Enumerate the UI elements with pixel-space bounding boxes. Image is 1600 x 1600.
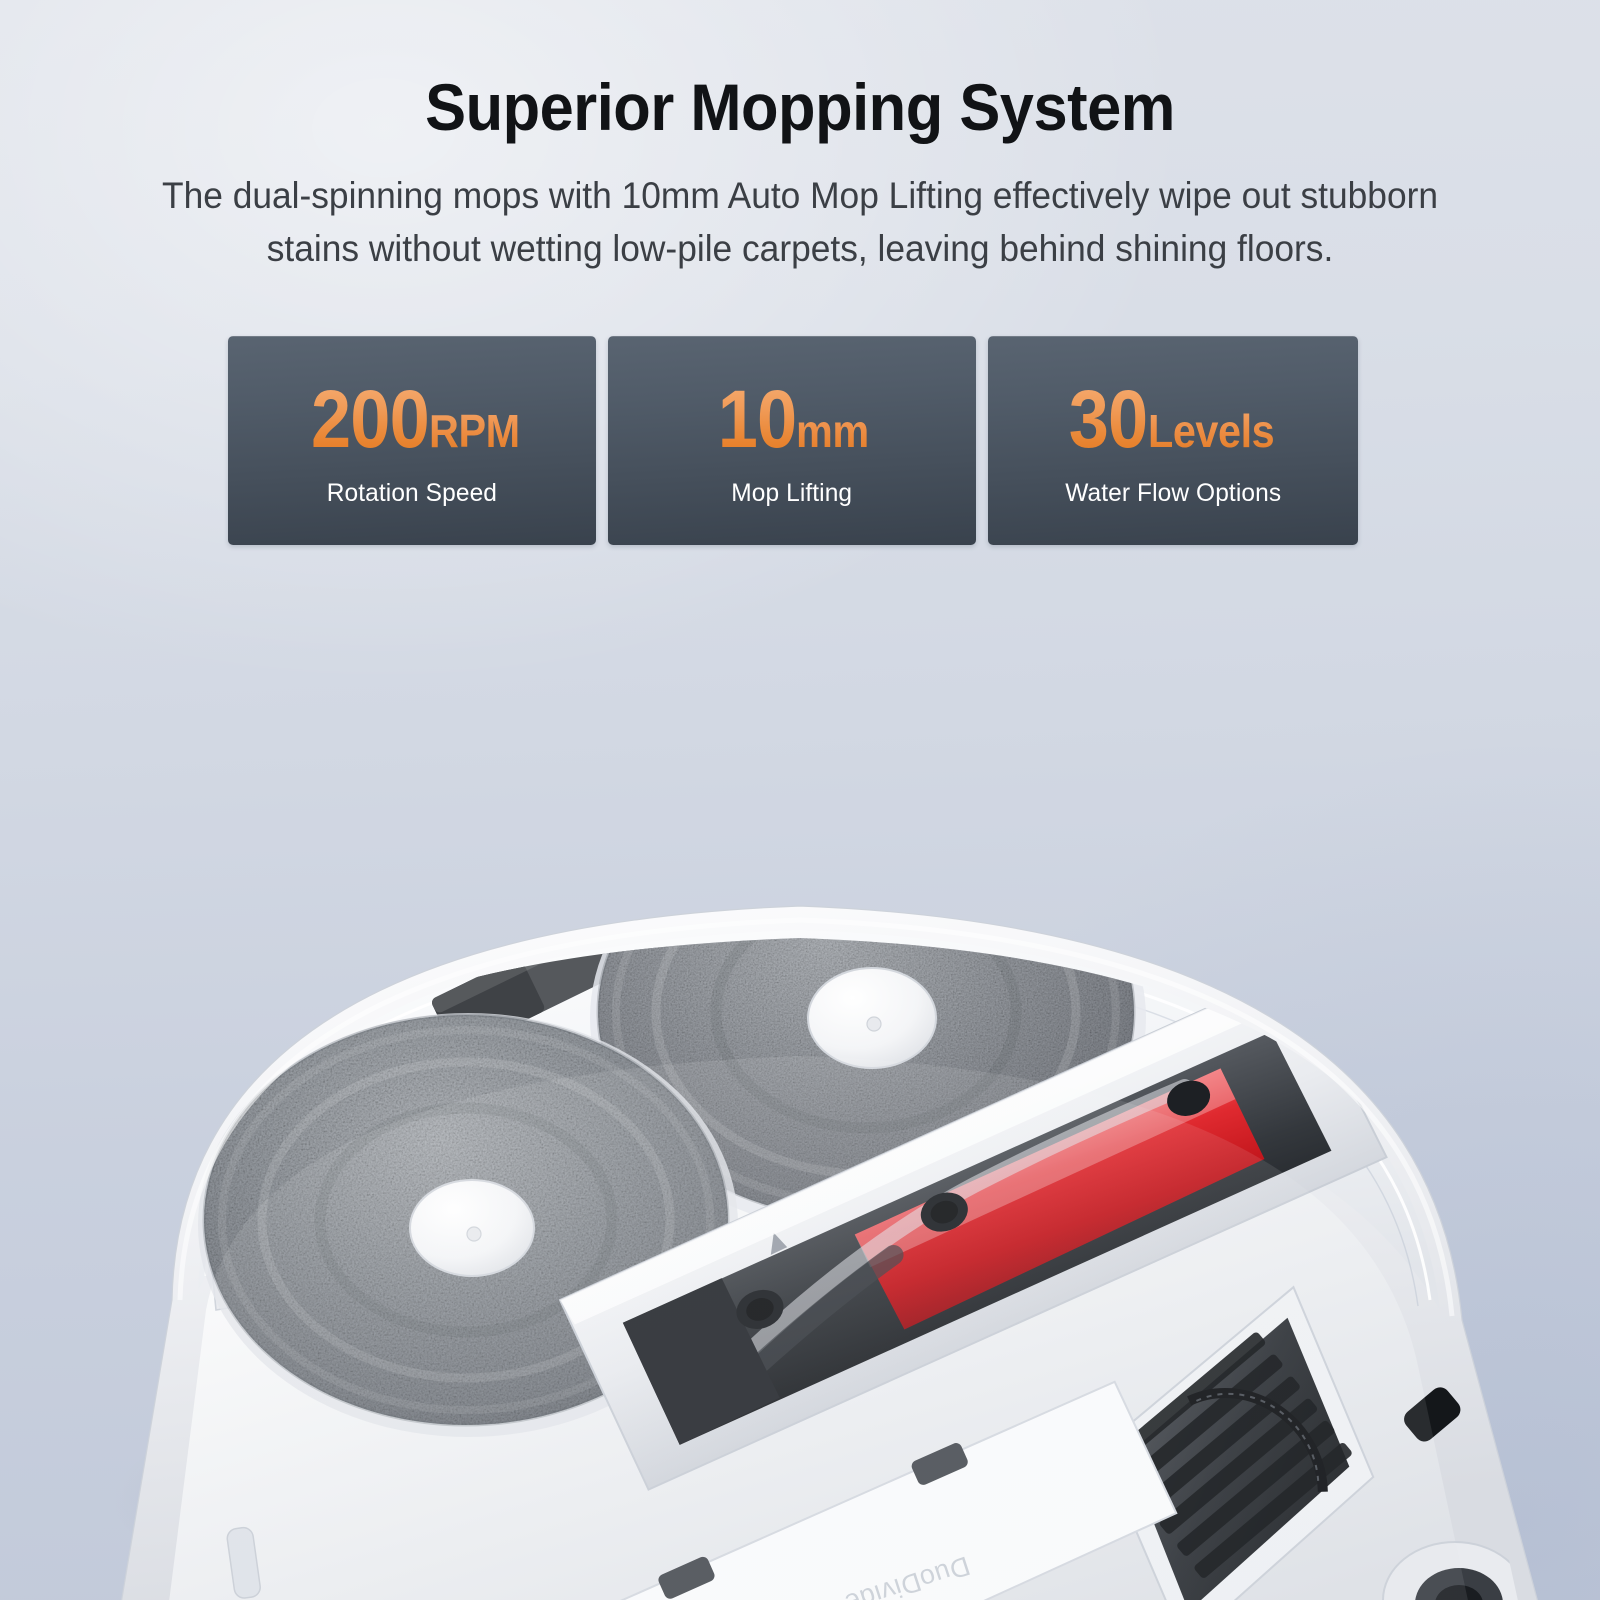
stat-label: Rotation Speed bbox=[327, 479, 497, 508]
stat-label: Water Flow Options bbox=[1065, 479, 1281, 508]
stat-value: 30 Levels bbox=[1058, 379, 1287, 461]
stat-unit: RPM bbox=[429, 408, 520, 454]
stat-value: 200 RPM bbox=[295, 379, 530, 461]
stat-card-rotation-speed: 200 RPM Rotation Speed bbox=[228, 336, 596, 545]
stat-unit: mm bbox=[796, 408, 869, 454]
product-photo: DuoDivide bbox=[0, 600, 1600, 1600]
stat-unit: Levels bbox=[1148, 408, 1274, 454]
page-subtitle: The dual-spinning mops with 10mm Auto Mo… bbox=[122, 140, 1478, 275]
stat-card-mop-lifting: 10 mm Mop Lifting bbox=[608, 336, 976, 545]
stat-label: Mop Lifting bbox=[732, 479, 853, 508]
stat-number: 200 bbox=[311, 379, 429, 461]
stat-number: 10 bbox=[718, 379, 797, 461]
stat-value: 10 mm bbox=[707, 379, 877, 461]
stats-row: 200 RPM Rotation Speed 10 mm Mop Lifting… bbox=[228, 336, 1346, 545]
header: Superior Mopping System The dual-spinnin… bbox=[0, 0, 1600, 275]
robot-vacuum-illustration: DuoDivide bbox=[0, 600, 1600, 1600]
stat-card-water-flow: 30 Levels Water Flow Options bbox=[988, 336, 1358, 545]
page-title: Superior Mopping System bbox=[56, 0, 1544, 140]
stat-number: 30 bbox=[1069, 379, 1148, 461]
